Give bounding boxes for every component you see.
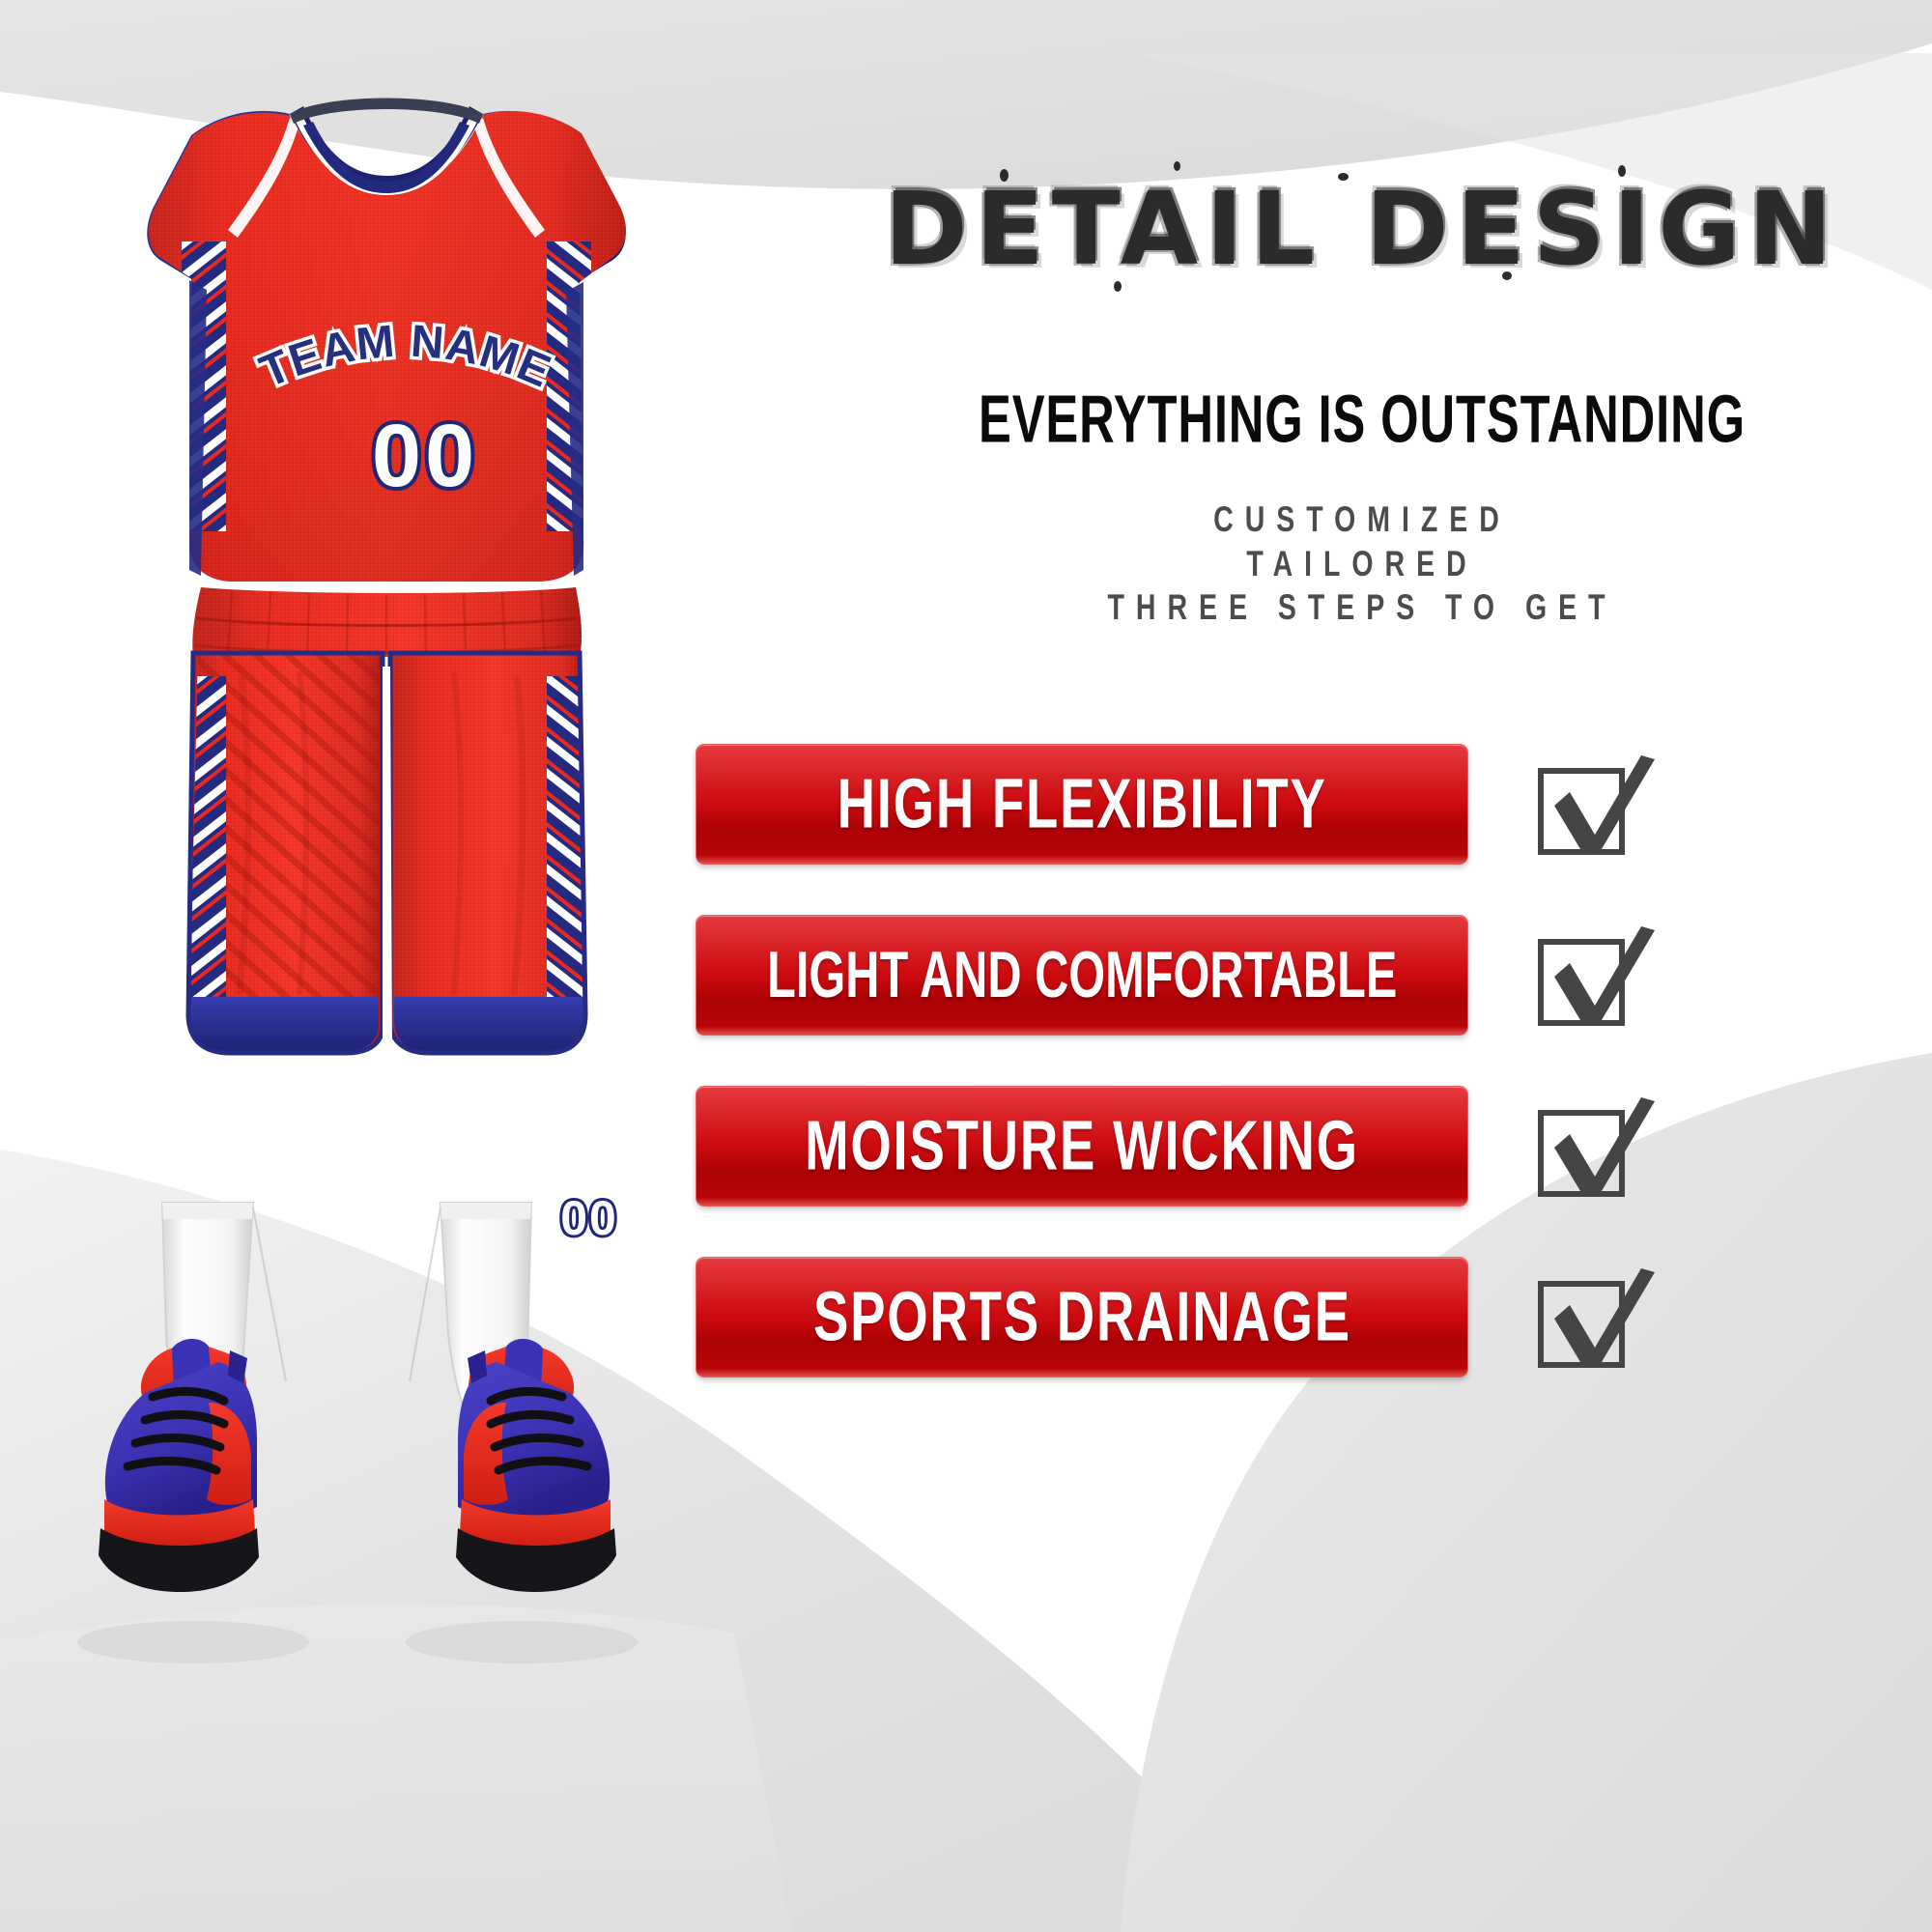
product-photo: TEAM NAME 00 00 — [0, 0, 792, 1932]
sock-right-cuff — [440, 1203, 531, 1219]
checkmark-icon — [1521, 917, 1666, 1042]
checkmark-icon — [1521, 1259, 1666, 1384]
feature-bar-light-and-comfortable[interactable]: LIGHT AND COMFORTABLE — [696, 915, 1468, 1036]
heading-block: DETAIL DESIGN — [792, 179, 1932, 279]
feature-label: MOISTURE WICKING — [805, 1106, 1359, 1185]
feature-bar-high-flexibility[interactable]: HIGH FLEXIBILITY — [696, 744, 1468, 865]
shoe-left — [77, 1339, 309, 1663]
shorts — [184, 587, 597, 1063]
feature-label: HIGH FLEXIBILITY — [837, 764, 1326, 843]
sock-left-cuff — [162, 1203, 253, 1219]
checkbox-light-and-comfortable[interactable] — [1521, 917, 1666, 1042]
page-subtitle: EVERYTHING IS OUTSTANDING — [872, 381, 1853, 458]
shoe-right — [406, 1339, 638, 1663]
basketball-uniform-illustration — [0, 0, 792, 1932]
shorts-right-hem — [384, 997, 597, 1055]
grunge-speck — [1114, 281, 1122, 292]
feature-label: SPORTS DRAINAGE — [813, 1277, 1351, 1356]
checkmark-icon — [1521, 746, 1666, 871]
page-title: DETAIL DESIGN — [884, 170, 1839, 288]
jersey-neck-rim — [290, 99, 483, 125]
feature-row: HIGH FLEXIBILITY — [792, 744, 1932, 915]
feature-label: LIGHT AND COMFORTABLE — [767, 938, 1397, 1013]
checkbox-sports-drainage[interactable] — [1521, 1259, 1666, 1384]
feature-bar-sports-drainage[interactable]: SPORTS DRAINAGE — [696, 1257, 1468, 1378]
checkmark-icon — [1521, 1088, 1666, 1213]
feature-row: SPORTS DRAINAGE — [792, 1257, 1932, 1428]
tagline-line-3: THREE STEPS TO GET — [838, 582, 1887, 635]
checkbox-high-flexibility[interactable] — [1521, 746, 1666, 871]
checkbox-moisture-wicking[interactable] — [1521, 1088, 1666, 1213]
feature-row: LIGHT AND COMFORTABLE — [792, 915, 1932, 1086]
tagline-block: CUSTOMIZED TAILORED THREE STEPS TO GET — [792, 497, 1932, 630]
content-panel: DETAIL DESIGN EVERYTHING IS OUTSTANDING … — [792, 0, 1932, 1932]
feature-bar-moisture-wicking[interactable]: MOISTURE WICKING — [696, 1086, 1468, 1207]
feature-row: MOISTURE WICKING — [792, 1086, 1932, 1257]
jersey — [147, 99, 626, 582]
feature-list: HIGH FLEXIBILITY LIGHT AND COMFORTABLE — [792, 744, 1932, 1428]
shorts-left-hem — [184, 997, 396, 1055]
